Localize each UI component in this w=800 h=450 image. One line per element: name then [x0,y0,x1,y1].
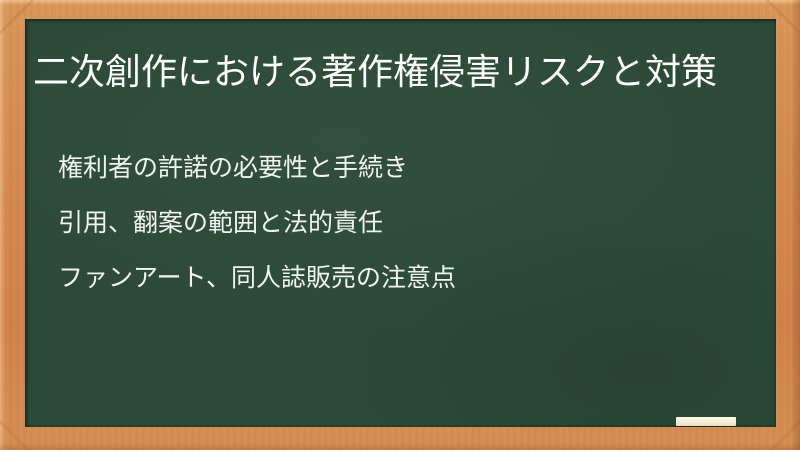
blackboard-slide: 二次創作における著作権侵害リスクと対策 権利者の許諾の必要性と手続き 引用、翻案… [0,0,800,450]
frame-top-edge [0,0,800,5]
chalk-stick-icon [676,417,736,426]
frame-left-edge [0,0,6,450]
bullet-item-1: 権利者の許諾の必要性と手続き [58,153,758,182]
bullet-item-2: 引用、翻案の範囲と法的責任 [58,208,758,237]
frame-bottom-edge [0,442,800,450]
slide-bullet-list: 権利者の許諾の必要性と手続き 引用、翻案の範囲と法的責任 ファンアート、同人誌販… [58,153,758,292]
bullet-item-3: ファンアート、同人誌販売の注意点 [58,263,758,292]
frame-right-edge [791,0,800,450]
blackboard-surface: 二次創作における著作権侵害リスクと対策 権利者の許諾の必要性と手続き 引用、翻案… [25,19,776,427]
slide-title: 二次創作における著作権侵害リスクと対策 [33,50,757,96]
